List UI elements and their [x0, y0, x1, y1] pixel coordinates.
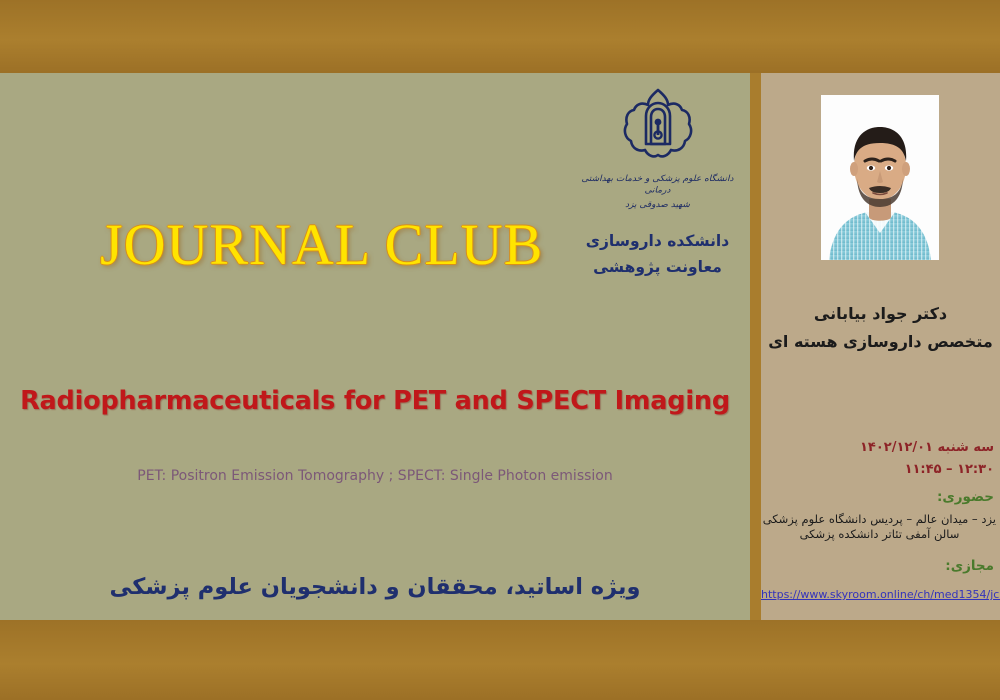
- university-logo-block: دانشگاه علوم پزشکی و خدمات بهداشتی درمان…: [575, 86, 740, 279]
- speaker-name: دکتر جواد بیابانی: [761, 304, 1000, 323]
- online-meeting-link[interactable]: https://www.skyroom.online/ch/med1354/jc…: [761, 588, 1000, 601]
- event-time: ۱۲:۳۰ – ۱۱:۴۵: [761, 462, 994, 477]
- journal-club-heading: JOURNAL CLUB: [100, 216, 543, 274]
- venue-address-line-1: یزد – میدان عالم – پردیس دانشگاه علوم پز…: [763, 512, 996, 528]
- talk-title: Radiopharmaceuticals for PET and SPECT I…: [0, 386, 750, 416]
- top-gold-band: [0, 0, 1000, 73]
- poster-canvas: JOURNAL CLUB Radiopharmaceuticals for PE…: [0, 0, 1000, 700]
- online-label: مجازی:: [761, 558, 994, 574]
- department-name: معاونت پژوهشی: [575, 255, 740, 279]
- vertical-divider: [750, 73, 761, 620]
- event-date: سه شنبه ۱۴۰۲/۱۲/۰۱: [761, 440, 994, 455]
- venue-address-line-2: سالن آمفی تئاتر دانشکده پزشکی: [763, 527, 996, 543]
- university-script-line-1: دانشگاه علوم پزشکی و خدمات بهداشتی درمان…: [575, 174, 740, 197]
- audience-line: ویژه اساتید، محققان و دانشجویان علوم پزش…: [0, 574, 750, 600]
- in-person-label: حضوری:: [761, 489, 994, 505]
- bottom-gold-band: [0, 620, 1000, 700]
- speaker-title: متخصص داروسازی هسته ای: [761, 332, 1000, 351]
- talk-subtitle-abbreviations: PET: Positron Emission Tomography ; SPEC…: [0, 468, 750, 484]
- faculty-name: دانشکده داروسازی: [575, 229, 740, 253]
- speaker-photo: [821, 95, 939, 260]
- university-emblem-icon: [575, 86, 740, 171]
- university-script-line-2: شهید صدوقی یزد: [575, 200, 740, 212]
